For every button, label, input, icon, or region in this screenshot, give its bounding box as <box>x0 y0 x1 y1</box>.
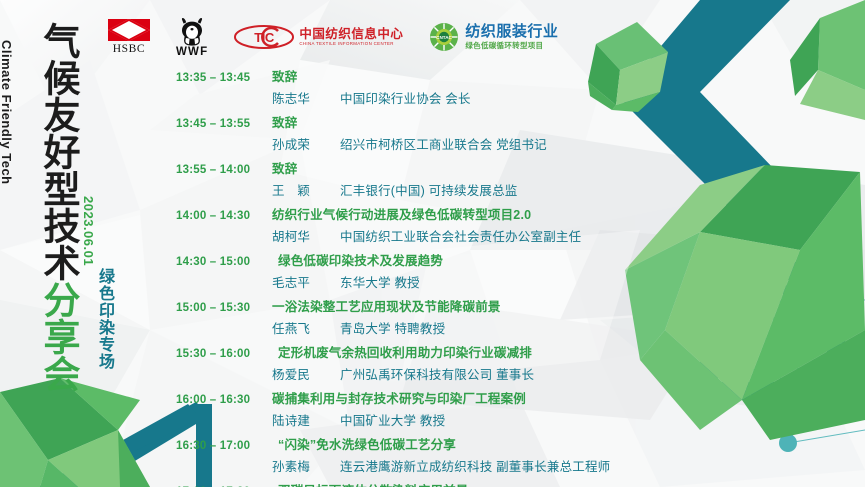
agenda-slot: 13:45 – 13:55致辞孙成荣绍兴市柯桥区工商业联合会 党组书记 <box>176 112 776 153</box>
poster-track-label: 绿色印染专场 <box>92 268 116 370</box>
agenda-speaker-row: 任燕飞青岛大学 特聘教授 <box>176 318 776 337</box>
agenda-slot-header: 16:00 – 16:30碳捕集利用与封存技术研究与印染厂工程案例 <box>176 388 776 407</box>
agenda-slot: 15:00 – 15:30一浴法染整工艺应用现状及节能降碳前景任燕飞青岛大学 特… <box>176 296 776 337</box>
agenda-slot: 16:30 – 17:00“闪染”免水洗绿色低碳工艺分享孙素梅连云港鹰游新立成纺… <box>176 434 776 475</box>
agenda-slot: 13:55 – 14:00致辞王 颖汇丰银行(中国) 可持续发展总监 <box>176 158 776 199</box>
agenda-speaker-name: 胡柯华 <box>272 226 340 245</box>
agenda-slot: 13:35 – 13:45致辞陈志华中国印染行业协会 会长 <box>176 66 776 107</box>
agenda-speaker-org: 绍兴市柯桥区工商业联合会 党组书记 <box>340 134 547 153</box>
agenda-speaker-org: 中国印染行业协会 会长 <box>340 88 471 107</box>
agenda-time: 16:30 – 17:00 <box>176 440 272 452</box>
agenda-slot-header: 13:35 – 13:45致辞 <box>176 66 776 85</box>
agenda-speaker-row: 杨爱民广州弘禹环保科技有限公司 董事长 <box>176 364 776 383</box>
agenda-slot: 16:00 – 16:30碳捕集利用与封存技术研究与印染厂工程案例陆诗建中国矿业… <box>176 388 776 429</box>
agenda-speaker-row: 孙素梅连云港鹰游新立成纺织科技 副董事长兼总工程师 <box>176 456 776 475</box>
agenda-slot-header: 15:00 – 15:30一浴法染整工艺应用现状及节能降碳前景 <box>176 296 776 315</box>
agenda-time: 14:30 – 15:00 <box>176 256 272 268</box>
agenda-slot: 14:00 – 14:30纺织行业气候行动进展及绿色低碳转型项目2.0胡柯华中国… <box>176 204 776 245</box>
agenda-speaker-name: 孙素梅 <box>272 456 340 475</box>
agenda-slot-header: 17:00 – 17:30双碳目标下液体分散染料应用前景 <box>176 480 776 487</box>
agenda-time: 13:45 – 13:55 <box>176 118 272 130</box>
agenda-speaker-org: 中国纺织工业联合会社会责任办公室副主任 <box>340 226 581 245</box>
poster-title-english: Climate Friendly Tech <box>0 40 14 185</box>
poster-title-block: 气候友好型技术 分享会 Climate Friendly Tech 2023.0… <box>0 0 150 487</box>
agenda-slot: 17:00 – 17:30双碳目标下液体分散染料应用前景崔志华浙江理工大学 副教… <box>176 480 776 487</box>
agenda-speaker-name: 毛志平 <box>272 272 340 291</box>
hsbc-logo: HSBC <box>108 19 150 55</box>
agenda-topic: 碳捕集利用与封存技术研究与印染厂工程案例 <box>272 388 526 407</box>
agenda-speaker-org: 广州弘禹环保科技有限公司 董事长 <box>340 364 534 383</box>
agenda-speaker-org: 东华大学 教授 <box>340 272 420 291</box>
wwf-logo: WWF <box>176 17 208 58</box>
agenda-slot-header: 14:00 – 14:30纺织行业气候行动进展及绿色低碳转型项目2.0 <box>176 204 776 223</box>
agenda-time: 15:30 – 16:00 <box>176 348 272 360</box>
wwf-panda-icon <box>177 17 207 46</box>
agenda-topic: 绿色低碳印染技术及发展趋势 <box>272 250 443 269</box>
agenda-slot-header: 15:30 – 16:00定形机废气余热回收利用助力印染行业碳减排 <box>176 342 776 361</box>
agenda-speaker-name: 陆诗建 <box>272 410 340 429</box>
agenda-topic: 定形机废气余热回收利用助力印染行业碳减排 <box>272 342 532 361</box>
hsbc-wordmark: HSBC <box>113 43 145 55</box>
agenda-speaker-name: 王 颖 <box>272 180 340 199</box>
agenda-time: 15:00 – 15:30 <box>176 302 272 314</box>
agenda-time: 13:35 – 13:45 <box>176 72 272 84</box>
agenda-topic: 双碳目标下液体分散染料应用前景 <box>272 480 469 487</box>
ctic-logo: TIC 中国纺织信息中心 CHINA TEXTILE INFORMATION C… <box>234 25 403 49</box>
agenda-slot-header: 16:30 – 17:00“闪染”免水洗绿色低碳工艺分享 <box>176 434 776 453</box>
program-subtitle-cn: 绿色低碳循环转型项目 <box>465 42 558 50</box>
agenda-topic: 致辞 <box>272 66 297 85</box>
svg-text:CNTAC: CNTAC <box>436 35 452 40</box>
agenda-topic: 纺织行业气候行动进展及绿色低碳转型项目2.0 <box>272 204 531 223</box>
poster-title-main: 气候友好型技术 分享会 <box>40 22 77 462</box>
agenda-topic: “闪染”免水洗绿色低碳工艺分享 <box>272 434 456 453</box>
agenda-speaker-row: 胡柯华中国纺织工业联合会社会责任办公室副主任 <box>176 226 776 245</box>
agenda-slot-header: 14:30 – 15:00绿色低碳印染技术及发展趋势 <box>176 250 776 269</box>
agenda-speaker-row: 陆诗建中国矿业大学 教授 <box>176 410 776 429</box>
program-circular-icon: CNTAC <box>429 22 459 52</box>
agenda-speaker-org: 汇丰银行(中国) 可持续发展总监 <box>340 180 518 199</box>
agenda-speaker-name: 陈志华 <box>272 88 340 107</box>
agenda-speaker-row: 孙成荣绍兴市柯桥区工商业联合会 党组书记 <box>176 134 776 153</box>
agenda-slot: 15:30 – 16:00定形机废气余热回收利用助力印染行业碳减排杨爱民广州弘禹… <box>176 342 776 383</box>
sponsor-logo-bar: HSBC WWF <box>108 14 558 60</box>
program-name-cn: 纺织服装行业 <box>465 24 558 39</box>
agenda-topic: 致辞 <box>272 112 297 131</box>
agenda-time: 16:00 – 16:30 <box>176 394 272 406</box>
agenda-speaker-org: 青岛大学 特聘教授 <box>340 318 445 337</box>
agenda-slot-header: 13:45 – 13:55致辞 <box>176 112 776 131</box>
ctic-name-en: CHINA TEXTILE INFORMATION CENTER <box>299 42 403 46</box>
agenda-speaker-name: 杨爱民 <box>272 364 340 383</box>
textile-program-logo: CNTAC 纺织服装行业 绿色低碳循环转型项目 <box>429 22 558 52</box>
agenda-time: 13:55 – 14:00 <box>176 164 272 176</box>
wwf-wordmark: WWF <box>176 46 208 58</box>
ctic-monogram-icon: TIC <box>234 25 294 49</box>
ctic-name-cn: 中国纺织信息中心 <box>299 28 403 41</box>
poster-title-cn-black: 气候友好型技术 <box>40 22 77 281</box>
agenda-speaker-org: 连云港鹰游新立成纺织科技 副董事长兼总工程师 <box>340 456 610 475</box>
poster-title-cn-green: 分享会 <box>40 281 77 392</box>
agenda-speaker-org: 中国矿业大学 教授 <box>340 410 445 429</box>
agenda-speaker-row: 毛志平东华大学 教授 <box>176 272 776 291</box>
agenda-time: 14:00 – 14:30 <box>176 210 272 222</box>
agenda-topic: 致辞 <box>272 158 297 177</box>
agenda-list: 13:35 – 13:45致辞陈志华中国印染行业协会 会长13:45 – 13:… <box>176 66 776 487</box>
agenda-speaker-row: 陈志华中国印染行业协会 会长 <box>176 88 776 107</box>
agenda-speaker-row: 王 颖汇丰银行(中国) 可持续发展总监 <box>176 180 776 199</box>
agenda-slot-header: 13:55 – 14:00致辞 <box>176 158 776 177</box>
hsbc-hexagon-icon <box>108 19 150 41</box>
agenda-topic: 一浴法染整工艺应用现状及节能降碳前景 <box>272 296 501 315</box>
poster-date: 2023.06.01 <box>81 196 96 266</box>
agenda-slot: 14:30 – 15:00绿色低碳印染技术及发展趋势毛志平东华大学 教授 <box>176 250 776 291</box>
agenda-speaker-name: 任燕飞 <box>272 318 340 337</box>
poster-canvas: 气候友好型技术 分享会 Climate Friendly Tech 2023.0… <box>0 0 865 487</box>
agenda-speaker-name: 孙成荣 <box>272 134 340 153</box>
